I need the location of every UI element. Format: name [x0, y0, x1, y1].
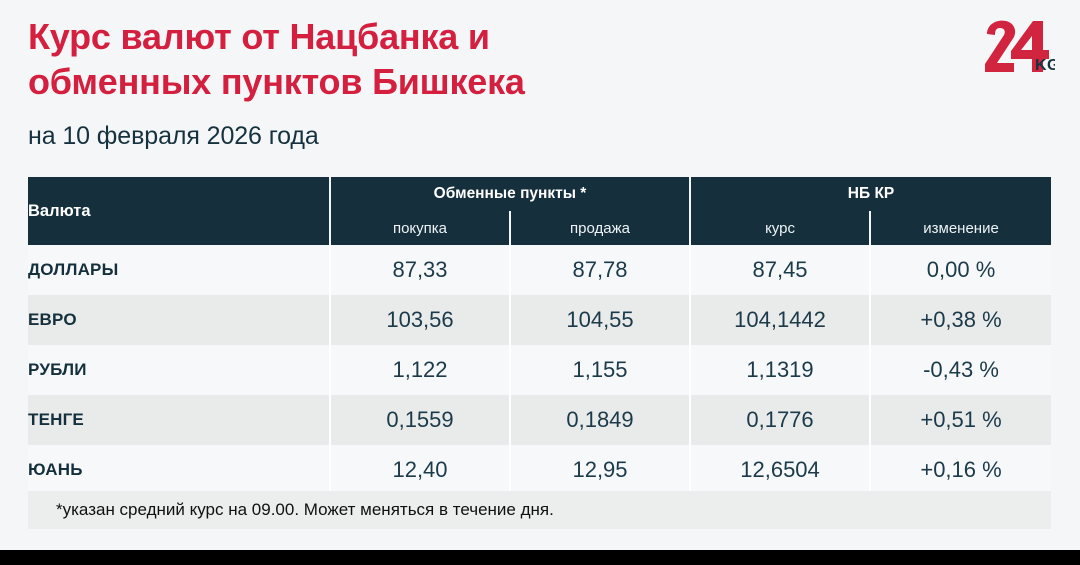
table-row: РУБЛИ 1,122 1,155 1,1319 -0,43 %: [28, 345, 1051, 395]
cell-buy: 87,33: [330, 245, 510, 295]
cell-sell: 0,1849: [510, 395, 690, 445]
cell-change: -0,43 %: [870, 345, 1051, 395]
cell-change: 0,00 %: [870, 245, 1051, 295]
cell-change: +0,51 %: [870, 395, 1051, 445]
cell-sell: 12,95: [510, 445, 690, 495]
column-header-sell: продажа: [510, 211, 690, 245]
page-title-line-2: обменных пунктов Бишкека: [28, 59, 968, 104]
cell-buy: 1,122: [330, 345, 510, 395]
cell-buy: 12,40: [330, 445, 510, 495]
page-header: Курс валют от Нацбанка и обменных пункто…: [28, 14, 968, 151]
svg-text:KG: KG: [1035, 57, 1055, 74]
logo-24kg-icon: KG: [983, 18, 1055, 74]
table-row: ДОЛЛАРЫ 87,33 87,78 87,45 0,00 %: [28, 245, 1051, 295]
cell-buy: 0,1559: [330, 395, 510, 445]
logo-24kg[interactable]: KG: [983, 18, 1055, 74]
page-title-line-1: Курс валют от Нацбанка и: [28, 14, 968, 59]
rates-table-container: Валюта Обменные пункты * НБ КР покупка п…: [28, 177, 1051, 495]
column-header-buy: покупка: [330, 211, 510, 245]
table-footnote: *указан средний курс на 09.00. Может мен…: [28, 491, 1051, 529]
cell-currency-name: РУБЛИ: [28, 345, 330, 395]
column-group-header-nbkr: НБ КР: [690, 177, 1051, 211]
cell-sell: 87,78: [510, 245, 690, 295]
column-header-rate: курс: [690, 211, 870, 245]
cell-currency-name: ДОЛЛАРЫ: [28, 245, 330, 295]
rates-table-body: ДОЛЛАРЫ 87,33 87,78 87,45 0,00 % ЕВРО 10…: [28, 245, 1051, 495]
table-row: ЕВРО 103,56 104,55 104,1442 +0,38 %: [28, 295, 1051, 345]
cell-rate: 1,1319: [690, 345, 870, 395]
cell-currency-name: ЕВРО: [28, 295, 330, 345]
page-title: Курс валют от Нацбанка и обменных пункто…: [28, 14, 968, 105]
bottom-bar: [0, 550, 1080, 565]
cell-change: +0,38 %: [870, 295, 1051, 345]
column-group-header-exchange-points: Обменные пункты *: [330, 177, 690, 211]
page-subtitle: на 10 февраля 2026 года: [28, 122, 968, 151]
cell-currency-name: ТЕНГЕ: [28, 395, 330, 445]
column-header-change: изменение: [870, 211, 1051, 245]
cell-rate: 87,45: [690, 245, 870, 295]
cell-sell: 1,155: [510, 345, 690, 395]
cell-rate: 12,6504: [690, 445, 870, 495]
cell-buy: 103,56: [330, 295, 510, 345]
table-header-row-groups: Валюта Обменные пункты * НБ КР: [28, 177, 1051, 211]
cell-change: +0,16 %: [870, 445, 1051, 495]
rates-table: Валюта Обменные пункты * НБ КР покупка п…: [28, 177, 1051, 495]
cell-currency-name: ЮАНЬ: [28, 445, 330, 495]
cell-sell: 104,55: [510, 295, 690, 345]
rates-table-head: Валюта Обменные пункты * НБ КР покупка п…: [28, 177, 1051, 245]
infographic-page: Курс валют от Нацбанка и обменных пункто…: [0, 0, 1080, 565]
table-row: ЮАНЬ 12,40 12,95 12,6504 +0,16 %: [28, 445, 1051, 495]
column-header-currency: Валюта: [28, 177, 330, 245]
cell-rate: 104,1442: [690, 295, 870, 345]
cell-rate: 0,1776: [690, 395, 870, 445]
table-row: ТЕНГЕ 0,1559 0,1849 0,1776 +0,51 %: [28, 395, 1051, 445]
